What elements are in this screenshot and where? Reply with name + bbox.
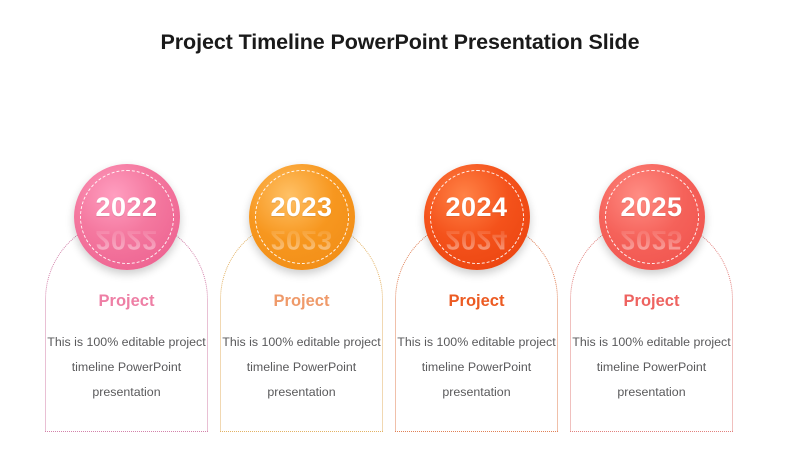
presentation-slide: Project Timeline PowerPoint Presentation… — [0, 0, 800, 450]
year-reflection-text: 2024 — [424, 224, 530, 255]
milestone-heading: Project — [39, 292, 214, 311]
year-circle-shape: 2024 2024 — [424, 164, 530, 270]
year-reflection-text: 2023 — [249, 224, 355, 255]
milestone-description: This is 100% editable project timeline P… — [572, 330, 731, 405]
milestone-heading: Project — [564, 292, 739, 311]
year-badge[interactable]: 2022 2022 — [74, 164, 180, 270]
milestone-heading: Project — [214, 292, 389, 311]
year-reflection-text: 2022 — [74, 224, 180, 255]
year-circle-shape: 2025 2025 — [599, 164, 705, 270]
year-label: 2024 — [424, 192, 530, 223]
year-label: 2023 — [249, 192, 355, 223]
year-circle-shape: 2023 2023 — [249, 164, 355, 270]
milestone-heading: Project — [389, 292, 564, 311]
timeline-milestone[interactable]: 2022 2022 Project This is 100% editable … — [39, 0, 214, 450]
timeline-milestone[interactable]: 2023 2023 Project This is 100% editable … — [214, 0, 389, 450]
milestone-description: This is 100% editable project timeline P… — [397, 330, 556, 405]
timeline-container: 2022 2022 Project This is 100% editable … — [0, 0, 800, 450]
milestone-description: This is 100% editable project timeline P… — [222, 330, 381, 405]
year-label: 2022 — [74, 192, 180, 223]
year-badge[interactable]: 2023 2023 — [249, 164, 355, 270]
timeline-milestone[interactable]: 2025 2025 Project This is 100% editable … — [564, 0, 739, 450]
year-reflection-text: 2025 — [599, 224, 705, 255]
year-circle-shape: 2022 2022 — [74, 164, 180, 270]
timeline-milestone[interactable]: 2024 2024 Project This is 100% editable … — [389, 0, 564, 450]
year-badge[interactable]: 2024 2024 — [424, 164, 530, 270]
year-badge[interactable]: 2025 2025 — [599, 164, 705, 270]
milestone-description: This is 100% editable project timeline P… — [47, 330, 206, 405]
year-label: 2025 — [599, 192, 705, 223]
